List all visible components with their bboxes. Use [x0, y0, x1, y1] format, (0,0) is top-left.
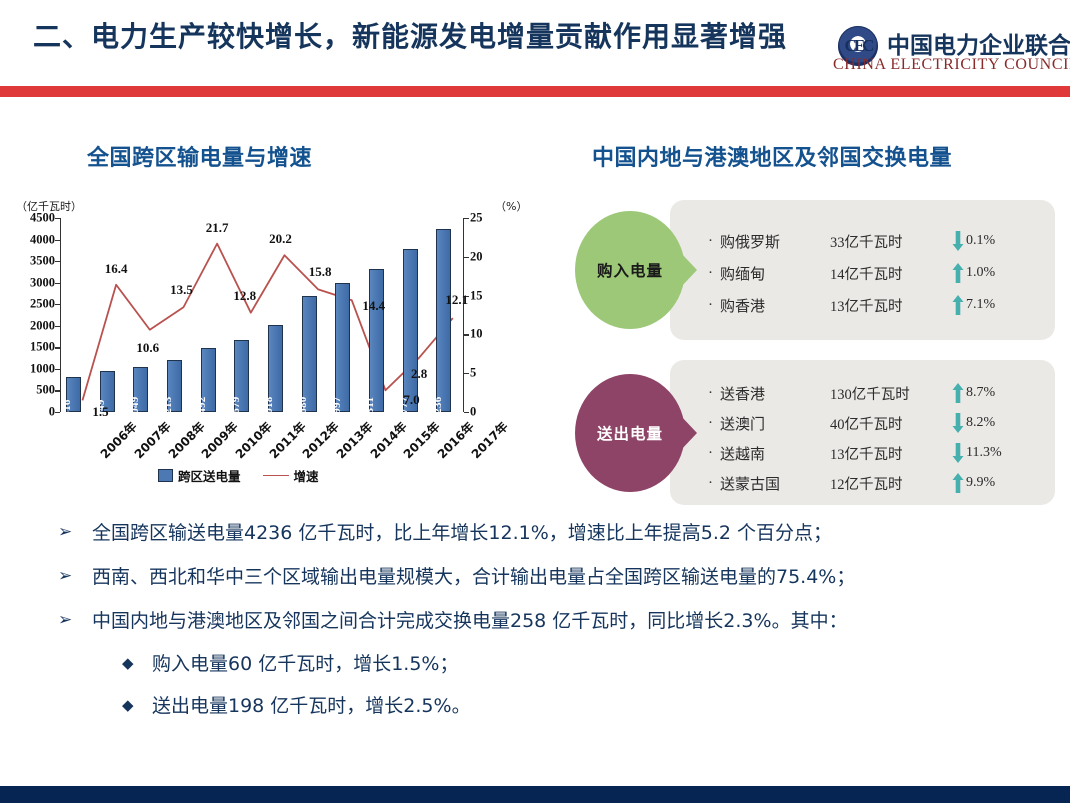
- left-section-heading: 全国跨区输电量与增速: [87, 140, 312, 172]
- bullet-item-level1: ➢中国内地与港澳地区及邻国之间合计完成交换电量258 亿千瓦时，同比增长2.3%…: [50, 610, 1060, 634]
- y-axis-tickmark: [55, 412, 60, 413]
- up-arrow-icon: [950, 472, 966, 494]
- chart-bar: 1049: [133, 367, 148, 412]
- y-axis-tick: 1500: [30, 340, 55, 355]
- exchange-row: ·送蒙古国12亿千瓦时9.9%: [708, 472, 1041, 494]
- x-axis-tick-label: 2016年: [433, 418, 477, 462]
- x-axis-tick-label: 2008年: [164, 418, 208, 462]
- x-axis-tick-label: 2013年: [332, 418, 376, 462]
- exchange-group: ·购俄罗斯33亿千瓦时0.1%·购缅甸14亿千瓦时1.0%·购香港13亿千瓦时7…: [545, 200, 1065, 340]
- bullet-marker-arrow-icon: ➢: [58, 566, 72, 587]
- exchange-row: ·购俄罗斯33亿千瓦时0.1%: [708, 230, 1041, 252]
- chart-bar: 1213: [167, 360, 182, 412]
- bullet-text: 全国跨区输送电量4236 亿千瓦时，比上年增长12.1%，增速比上年提高5.2 …: [92, 522, 832, 544]
- logo-chinese-name: 中国电力企业联合会: [887, 26, 1070, 60]
- row-change-percent: 7.1%: [966, 297, 995, 313]
- legend-line-label: 增速: [294, 466, 319, 485]
- row-change-percent: 11.3%: [966, 445, 1002, 461]
- x-axis-tick-label: 2012年: [299, 418, 343, 462]
- row-bullet-icon: ·: [708, 476, 720, 491]
- chart-bar: 3311: [369, 269, 384, 412]
- line-point-value-label: 2.8: [411, 366, 427, 382]
- y2-axis-tickmark: [464, 218, 469, 219]
- slide-root: 二、电力生产较快增长，新能源发电增量贡献作用显著增强 CEC 中国电力企业联合会…: [0, 0, 1070, 803]
- y-axis-tick: 1000: [30, 361, 55, 376]
- y2-axis-tickmark: [464, 373, 469, 374]
- chart-bar: 2680: [302, 296, 317, 412]
- footer-navy-bar: [0, 786, 1070, 803]
- chart-bar: 4236: [436, 229, 451, 412]
- line-point-value-label: 21.7: [206, 220, 229, 236]
- y-axis-tickmark: [55, 261, 60, 262]
- legend-bar-label: 跨区送电量: [178, 466, 241, 485]
- line-point-value-label: 13.5: [170, 282, 193, 298]
- bullet-item-level2: ◆购入电量60 亿千瓦时，增长1.5%；: [122, 653, 1060, 677]
- y-axis-tickmark: [55, 304, 60, 305]
- header-red-rule: [0, 86, 1070, 97]
- chart-bar: 1492: [201, 348, 216, 412]
- y2-axis-tick: 25: [470, 211, 483, 226]
- row-partner-name: 送香港: [720, 383, 830, 404]
- y2-axis-tickmark: [464, 412, 469, 413]
- line-point-value-label: 7.0: [403, 392, 419, 408]
- y-axis-tickmark: [55, 347, 60, 348]
- chart-bar-value-label: 1213: [162, 396, 174, 419]
- page-title: 二、电力生产较快增长，新能源发电增量贡献作用显著增强: [33, 15, 787, 55]
- row-value: 130亿千瓦时: [830, 383, 950, 404]
- up-arrow-icon: [950, 294, 966, 316]
- line-point-value-label: 10.6: [136, 340, 159, 356]
- row-partner-name: 送澳门: [720, 413, 830, 434]
- y-axis-tick: 3500: [30, 254, 55, 269]
- exchange-detail-panel: ·购俄罗斯33亿千瓦时0.1%·购缅甸14亿千瓦时1.0%·购香港13亿千瓦时7…: [670, 200, 1055, 340]
- exchange-row: ·送香港130亿千瓦时8.7%: [708, 382, 1041, 404]
- chart-plot-area: 0500100015002000250030003500400045000510…: [60, 218, 464, 412]
- chart-bar: 2997: [335, 283, 350, 412]
- chart-bar-value-label: 4236: [432, 396, 444, 419]
- y2-axis-tick: 0: [470, 405, 476, 420]
- bullet-item-level1: ➢全国跨区输送电量4236 亿千瓦时，比上年增长12.1%，增速比上年提高5.2…: [50, 522, 1060, 546]
- chart-bar: 816: [66, 377, 81, 412]
- exchange-row: ·购香港13亿千瓦时7.1%: [708, 294, 1041, 316]
- x-axis-tick-label: 2009年: [198, 418, 242, 462]
- electricity-exchange-diagram: ·购俄罗斯33亿千瓦时0.1%·购缅甸14亿千瓦时1.0%·购香港13亿千瓦时7…: [545, 195, 1065, 515]
- x-axis-tick-label: 2007年: [130, 418, 174, 462]
- y2-axis-tick: 20: [470, 249, 483, 264]
- y-axis-tickmark: [55, 218, 60, 219]
- exchange-row: ·送澳门40亿千瓦时8.2%: [708, 412, 1041, 434]
- y2-axis-tick: 5: [470, 366, 476, 381]
- line-point-value-label: 12.8: [233, 288, 256, 304]
- y-axis-tickmark: [55, 326, 60, 327]
- bullet-item-level1: ➢西南、西北和华中三个区域输出电量规模大，合计输出电量占全国跨区输送电量的75.…: [50, 566, 1060, 590]
- exchange-group: ·送香港130亿千瓦时8.7%·送澳门40亿千瓦时8.2%·送越南13亿千瓦时1…: [545, 360, 1065, 505]
- row-partner-name: 送越南: [720, 443, 830, 464]
- x-axis-tick-label: 2011年: [265, 418, 309, 462]
- row-bullet-icon: ·: [708, 386, 720, 401]
- y2-axis-tick: 15: [470, 288, 483, 303]
- x-axis-tick-label: 2014年: [366, 418, 410, 462]
- row-value: 40亿千瓦时: [830, 413, 950, 434]
- row-bullet-icon: ·: [708, 266, 720, 281]
- y-axis-tickmark: [55, 369, 60, 370]
- row-change-percent: 8.7%: [966, 385, 995, 401]
- chart-bar-value-label: 816: [61, 399, 73, 416]
- exchange-row: ·购缅甸14亿千瓦时1.0%: [708, 262, 1041, 284]
- bullet-text: 西南、西北和华中三个区域输出电量规模大，合计输出电量占全国跨区输送电量的75.4…: [92, 566, 855, 588]
- chart-bar-value-label: 2997: [331, 396, 343, 419]
- row-change-percent: 0.1%: [966, 233, 995, 249]
- flow-arrow-icon: [663, 397, 697, 469]
- line-point-value-label: 15.8: [309, 264, 332, 280]
- flow-arrow-icon: [663, 234, 697, 306]
- line-point-value-label: 1.5: [92, 404, 108, 420]
- y2-axis-tick: 10: [470, 327, 483, 342]
- y-axis-tick: 500: [36, 383, 55, 398]
- legend-item-line: 增速: [263, 466, 319, 485]
- bullet-marker-diamond-icon: ◆: [122, 696, 134, 715]
- y-axis-tickmark: [55, 390, 60, 391]
- row-partner-name: 购缅甸: [720, 263, 830, 284]
- bullet-marker-arrow-icon: ➢: [58, 522, 72, 543]
- chart-bar: 3777: [403, 249, 418, 412]
- x-axis-tick-label: 2017年: [467, 418, 511, 462]
- line-point-value-label: 20.2: [269, 231, 292, 247]
- chart-legend: 跨区送电量 增速: [158, 466, 319, 485]
- bullet-marker-arrow-icon: ➢: [58, 610, 72, 631]
- y2-axis-unit-label: （%）: [495, 198, 527, 214]
- x-axis-tick-label: 2015年: [400, 418, 444, 462]
- row-value: 33亿千瓦时: [830, 231, 950, 252]
- chart-bar-value-label: 1049: [129, 396, 141, 419]
- logo-english-name: CHINA ELECTRICITY COUNCIL: [833, 56, 1070, 74]
- row-value: 12亿千瓦时: [830, 473, 950, 494]
- y-axis-tick: 3000: [30, 275, 55, 290]
- down-arrow-icon: [950, 442, 966, 464]
- row-partner-name: 送蒙古国: [720, 473, 830, 494]
- row-bullet-icon: ·: [708, 234, 720, 249]
- y-axis-tickmark: [55, 283, 60, 284]
- exchange-row: ·送越南13亿千瓦时11.3%: [708, 442, 1041, 464]
- chart-bar-value-label: 3311: [364, 397, 376, 420]
- legend-bar-swatch: [158, 469, 173, 482]
- bullet-marker-diamond-icon: ◆: [122, 654, 134, 673]
- row-value: 14亿千瓦时: [830, 263, 950, 284]
- row-bullet-icon: ·: [708, 298, 720, 313]
- y-axis-tick: 2500: [30, 297, 55, 312]
- chart-bar-value-label: 1492: [196, 396, 208, 419]
- legend-line-swatch: [263, 475, 289, 476]
- x-axis-tick-label: 2010年: [231, 418, 275, 462]
- row-bullet-icon: ·: [708, 446, 720, 461]
- chart-bar: 2018: [268, 325, 283, 412]
- legend-item-bars: 跨区送电量: [158, 466, 241, 485]
- chart-bar: 1679: [234, 340, 249, 412]
- row-bullet-icon: ·: [708, 416, 720, 431]
- up-arrow-icon: [950, 382, 966, 404]
- row-value: 13亿千瓦时: [830, 443, 950, 464]
- y-axis-tickmark: [55, 240, 60, 241]
- y-axis-tick: 4500: [30, 211, 55, 226]
- row-change-percent: 8.2%: [966, 415, 995, 431]
- cross-region-transmission-chart: （亿千瓦时） （%） 05001000150020002500300035004…: [8, 196, 533, 496]
- y-axis-tick: 2000: [30, 318, 55, 333]
- bullet-text: 送出电量198 亿千瓦时，增长2.5%。: [152, 695, 471, 717]
- line-point-value-label: 12.1: [445, 292, 468, 308]
- row-partner-name: 购香港: [720, 295, 830, 316]
- right-section-heading: 中国内地与港澳地区及邻国交换电量: [592, 140, 952, 172]
- line-point-value-label: 16.4: [105, 261, 128, 277]
- down-arrow-icon: [950, 412, 966, 434]
- bullet-item-level2: ◆送出电量198 亿千瓦时，增长2.5%。: [122, 695, 1060, 719]
- up-arrow-icon: [950, 262, 966, 284]
- exchange-detail-panel: ·送香港130亿千瓦时8.7%·送澳门40亿千瓦时8.2%·送越南13亿千瓦时1…: [670, 360, 1055, 505]
- bullet-list: ➢全国跨区输送电量4236 亿千瓦时，比上年增长12.1%，增速比上年提高5.2…: [50, 522, 1060, 737]
- row-value: 13亿千瓦时: [830, 295, 950, 316]
- x-axis-tick-label: 2006年: [97, 418, 141, 462]
- y2-axis-tickmark: [464, 334, 469, 335]
- bullet-text: 中国内地与港澳地区及邻国之间合计完成交换电量258 亿千瓦时，同比增长2.3%。…: [92, 610, 848, 632]
- chart-bar-value-label: 2018: [263, 396, 275, 419]
- bullet-text: 购入电量60 亿千瓦时，增长1.5%；: [152, 653, 459, 675]
- row-change-percent: 9.9%: [966, 475, 995, 491]
- y2-axis-tickmark: [464, 257, 469, 258]
- organization-logo: CEC 中国电力企业联合会 CHINA ELECTRICITY COUNCIL: [830, 24, 1062, 82]
- chart-bar-value-label: 1679: [230, 396, 242, 419]
- line-point-value-label: 14.4: [362, 298, 385, 314]
- y-axis-tick: 4000: [30, 232, 55, 247]
- down-arrow-icon: [950, 230, 966, 252]
- row-change-percent: 1.0%: [966, 265, 995, 281]
- row-partner-name: 购俄罗斯: [720, 231, 830, 252]
- chart-bar-value-label: 2680: [297, 396, 309, 419]
